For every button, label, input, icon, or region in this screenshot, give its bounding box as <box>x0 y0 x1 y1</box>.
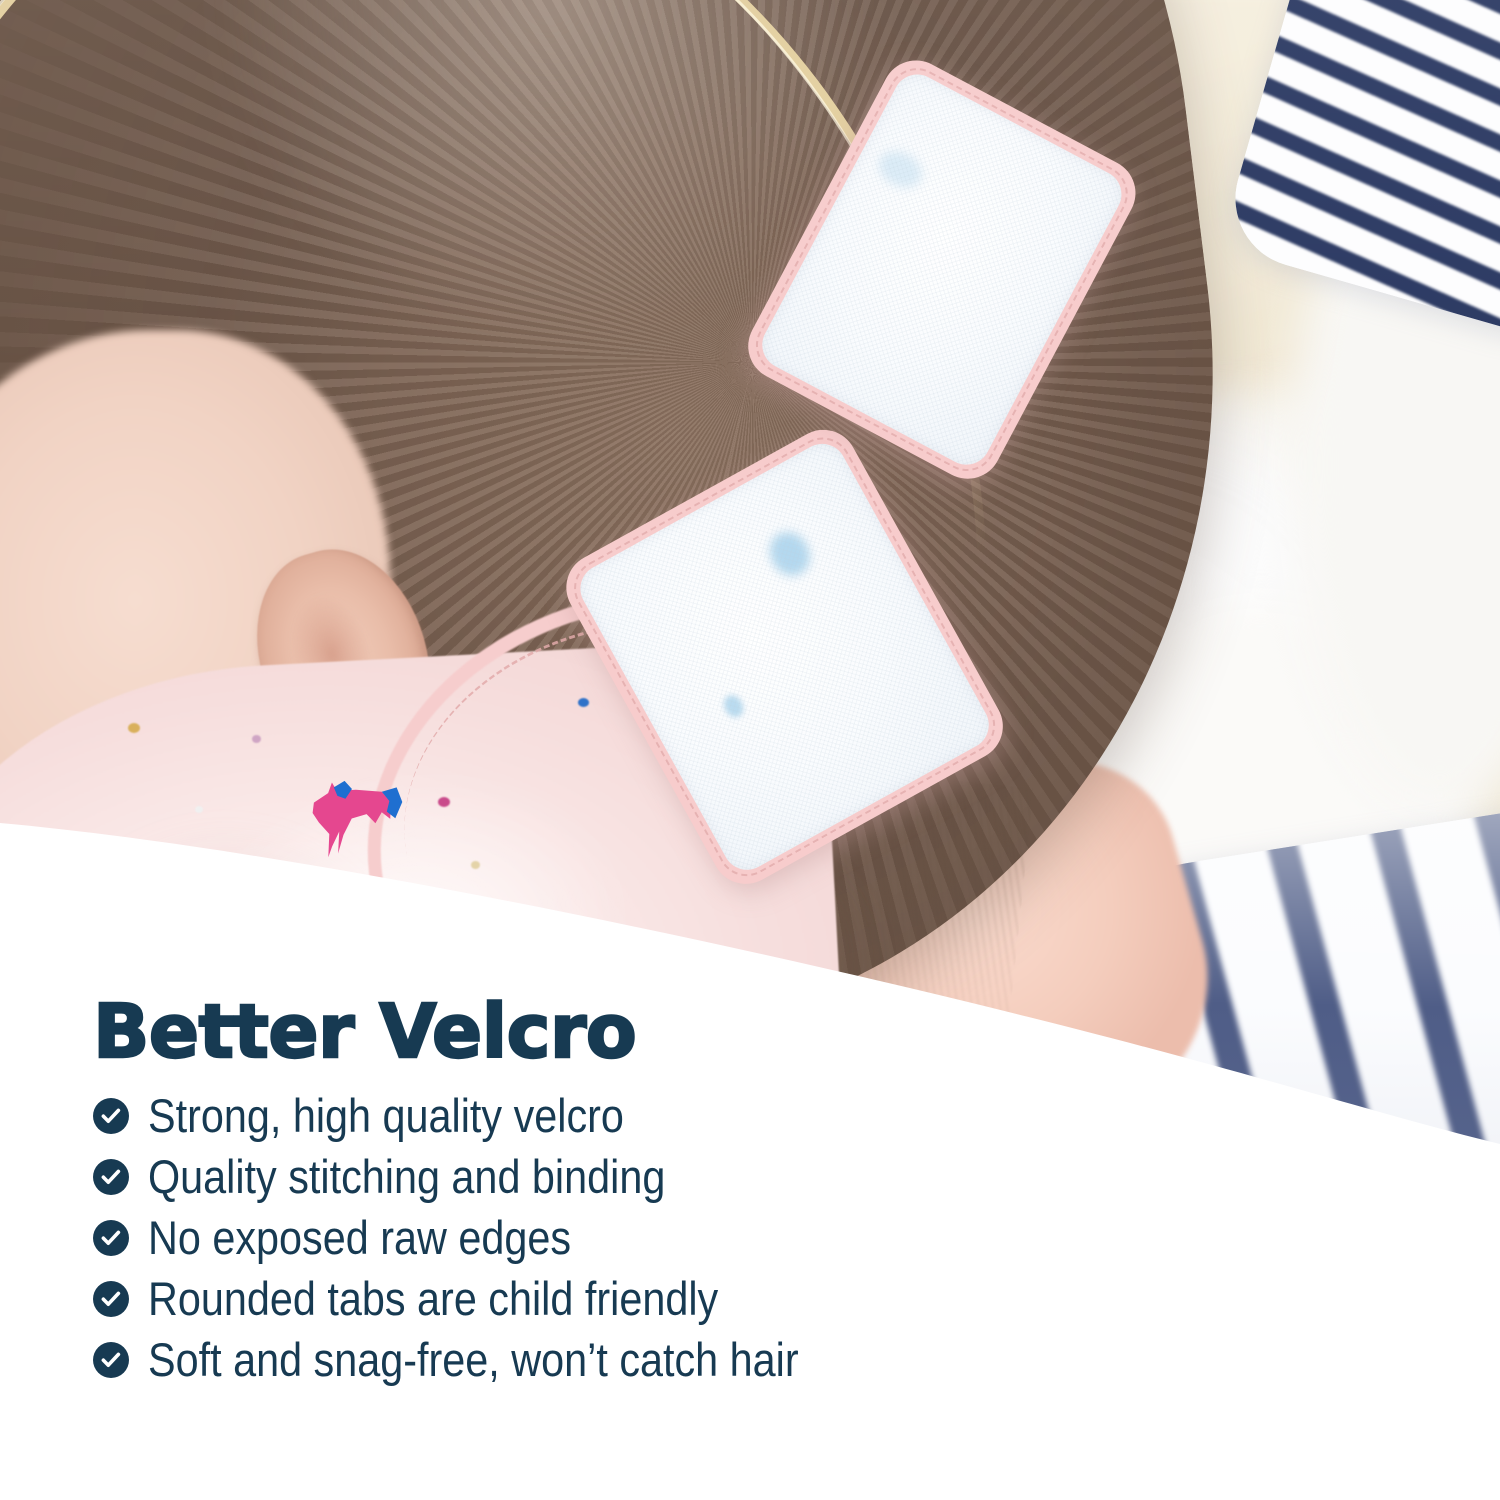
check-circle-icon <box>93 1098 129 1134</box>
check-circle-icon <box>93 1281 129 1317</box>
list-item: No exposed raw edges <box>93 1213 1413 1263</box>
bib-dot <box>252 735 261 743</box>
bib-dot <box>195 806 203 813</box>
feature-label: Soft and snag-free, won’t catch hair <box>148 1335 799 1385</box>
feature-label: Strong, high quality velcro <box>148 1091 624 1141</box>
list-item: Rounded tabs are child friendly <box>93 1274 1413 1324</box>
velcro-tab-lower-print-dot <box>720 691 747 721</box>
feature-list: Strong, high quality velcro Quality stit… <box>93 1091 1413 1385</box>
bib-dot <box>578 698 589 707</box>
list-item: Strong, high quality velcro <box>93 1091 1413 1141</box>
bib-dot <box>438 797 450 807</box>
page-title: Better Velcro <box>93 995 1413 1069</box>
feature-label: Quality stitching and binding <box>148 1152 665 1202</box>
unicorn-print <box>280 765 417 864</box>
feature-label: Rounded tabs are child friendly <box>148 1274 718 1324</box>
check-circle-icon <box>93 1342 129 1378</box>
bib-dot <box>471 861 480 869</box>
velcro-tab-lower-print-dot <box>762 525 817 583</box>
check-circle-icon <box>93 1220 129 1256</box>
feature-label: No exposed raw edges <box>148 1213 571 1263</box>
check-circle-icon <box>93 1159 129 1195</box>
bib-dot <box>128 723 140 733</box>
bib-dot <box>525 914 533 921</box>
feature-list-section: Better Velcro Strong, high quality velcr… <box>93 995 1413 1396</box>
product-feature-card: Better Velcro Strong, high quality velcr… <box>0 0 1500 1500</box>
bib-dot <box>369 897 379 905</box>
velcro-tab-upper-print-dot <box>873 145 928 195</box>
list-item: Quality stitching and binding <box>93 1152 1413 1202</box>
list-item: Soft and snag-free, won’t catch hair <box>93 1335 1413 1385</box>
